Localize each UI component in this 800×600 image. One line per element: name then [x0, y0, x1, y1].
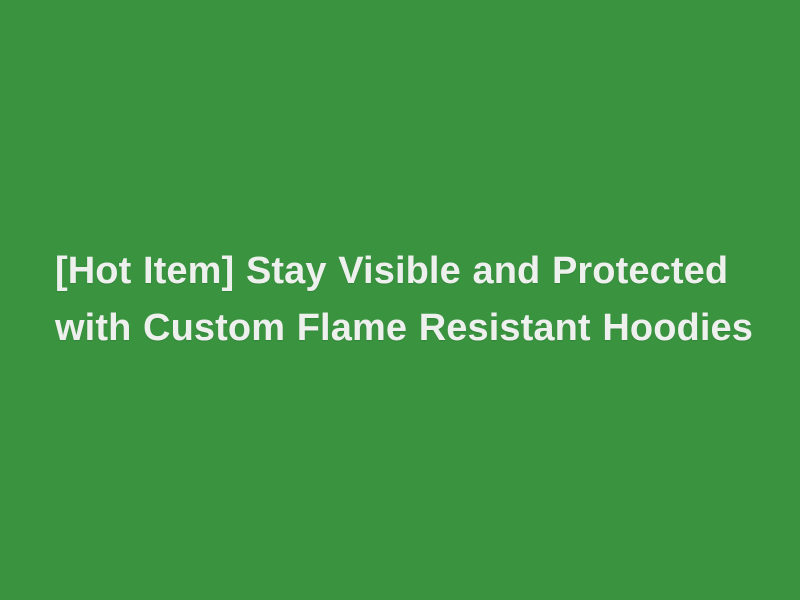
- headline-line-1: [Hot Item] Stay Visible and Protected: [55, 243, 745, 300]
- headline-line-2: with Custom Flame Resistant Hoodies: [55, 300, 745, 357]
- banner-headline: [Hot Item] Stay Visible and Protected wi…: [0, 243, 800, 357]
- promo-banner: [Hot Item] Stay Visible and Protected wi…: [0, 0, 800, 600]
